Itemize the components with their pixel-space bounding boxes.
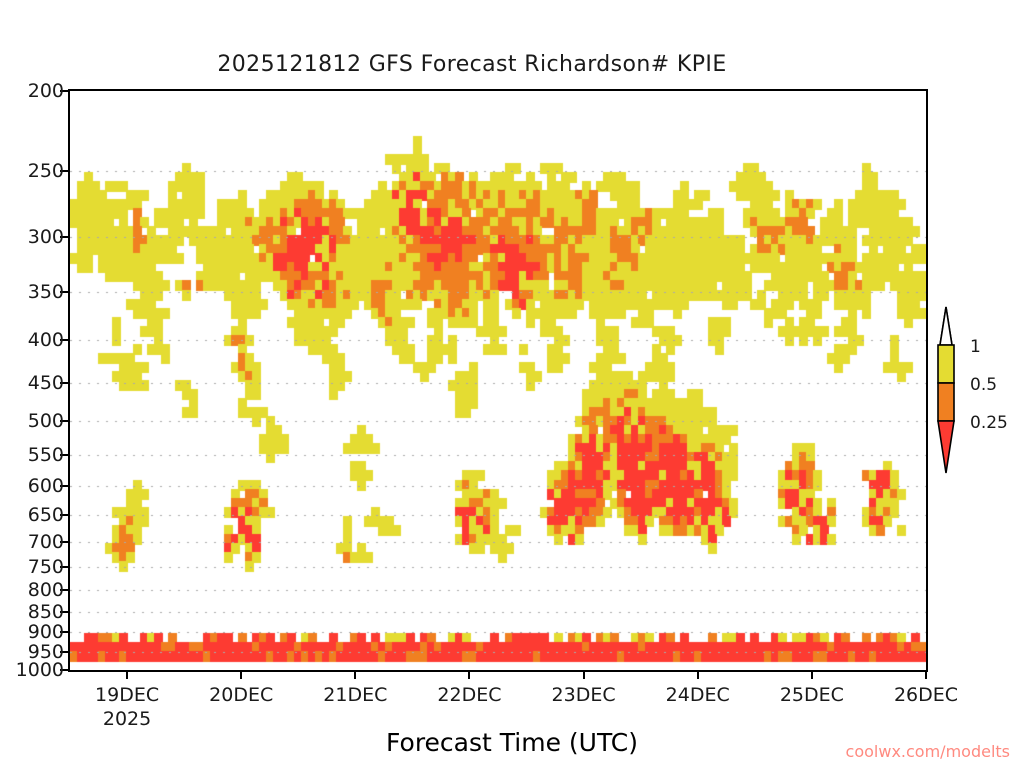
chart-page: 2025121812 GFS Forecast Richardson# KPIE… (0, 0, 1024, 768)
colorbar-tick-05: 0.5 (970, 375, 997, 395)
y-tick-label-650: 650 (6, 504, 64, 526)
x-axis-year-label: 2025 (103, 708, 151, 730)
richardson-heatmap (70, 91, 926, 670)
y-tick-label-800: 800 (6, 579, 64, 601)
y-tick-label-750: 750 (6, 556, 64, 578)
x-tick-label-26DEC: 26DEC (894, 684, 958, 706)
y-tick-label-850: 850 (6, 601, 64, 623)
x-tick-label-22DEC: 22DEC (437, 684, 501, 706)
x-tick-label-24DEC: 24DEC (666, 684, 730, 706)
y-tick-label-300: 300 (6, 226, 64, 248)
x-tick-label-21DEC: 21DEC (323, 684, 387, 706)
y-tick-label-400: 400 (6, 329, 64, 351)
y-tick-label-1000: 1000 (6, 659, 64, 681)
x-tick-label-20DEC: 20DEC (209, 684, 273, 706)
y-tick-label-450: 450 (6, 372, 64, 394)
y-axis: 2002503003504004505005506006507007508008… (0, 0, 64, 768)
y-tick-label-500: 500 (6, 410, 64, 432)
y-tick-label-250: 250 (6, 160, 64, 182)
y-tick-label-600: 600 (6, 475, 64, 497)
colorbar-tick-025: 0.25 (970, 413, 1008, 433)
y-tick-label-700: 700 (6, 531, 64, 553)
colorbar-tick-1: 1 (970, 337, 981, 357)
x-tick-label-23DEC: 23DEC (552, 684, 616, 706)
y-tick-label-550: 550 (6, 444, 64, 466)
credit-watermark: coolwx.com/modelts (846, 742, 1010, 761)
y-tick-label-200: 200 (6, 80, 64, 102)
colorbar: 1 0.5 0.25 (936, 305, 1024, 475)
x-tick-label-19DEC: 19DEC (95, 684, 159, 706)
y-tick-label-350: 350 (6, 281, 64, 303)
chart-title: 2025121812 GFS Forecast Richardson# KPIE (0, 52, 944, 77)
x-tick-label-25DEC: 25DEC (780, 684, 844, 706)
